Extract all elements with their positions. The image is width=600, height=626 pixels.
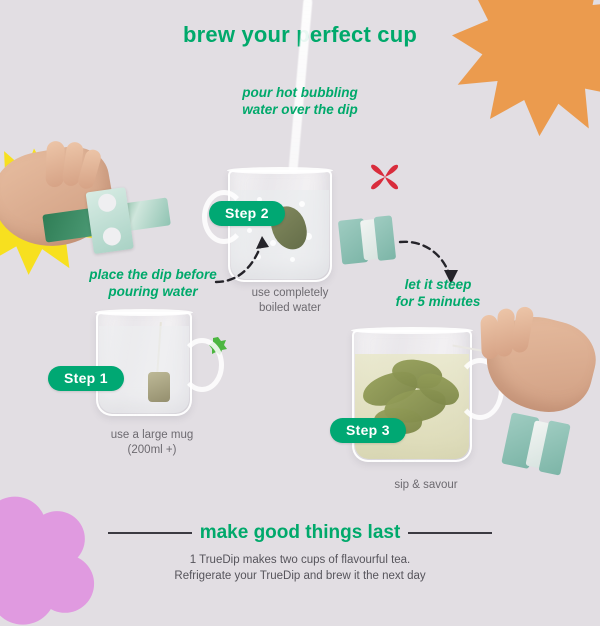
star-red-icon: [368, 160, 402, 194]
packet-card: [86, 187, 134, 254]
step-2-badge: Step 2: [209, 201, 285, 226]
tea-dip-packet-open-middle: [338, 215, 396, 264]
footer: make good things last 1 TrueDip makes tw…: [0, 522, 600, 584]
infographic-canvas: brew your perfect cup Step 1 use a large…: [0, 0, 600, 600]
mug-rim: [227, 167, 333, 174]
step-3-caption: sip & savour: [368, 478, 484, 493]
mug-rim: [95, 309, 193, 316]
tea-dip-bag: [148, 372, 170, 402]
packet-face-right: [374, 215, 397, 261]
footer-title: make good things last: [200, 522, 401, 544]
mug-step-1: [96, 312, 192, 416]
note-let-steep: let it steep for 5 minutes: [374, 276, 502, 310]
mug-rim: [351, 327, 473, 334]
footer-subtext: 1 TrueDip makes two cups of flavourful t…: [0, 552, 600, 584]
divider-left: [108, 532, 192, 534]
step-2-caption: use completely boiled water: [228, 286, 352, 316]
tea-dip-packet-open-right: [501, 412, 571, 475]
mug-handle: [180, 338, 224, 392]
divider-right: [408, 532, 492, 534]
step-1-badge: Step 1: [48, 366, 124, 391]
step-3-badge: Step 3: [330, 418, 406, 443]
note-place-dip: place the dip before pouring water: [68, 266, 238, 300]
packet-hole-top: [97, 193, 117, 213]
flower-orange-icon: [452, 0, 600, 138]
packet-hole-bottom: [102, 226, 122, 246]
step-1-caption: use a large mug (200ml +): [88, 428, 216, 458]
footer-heading-row: make good things last: [0, 522, 600, 544]
note-pour-water: pour hot bubbling water over the dip: [218, 84, 382, 118]
